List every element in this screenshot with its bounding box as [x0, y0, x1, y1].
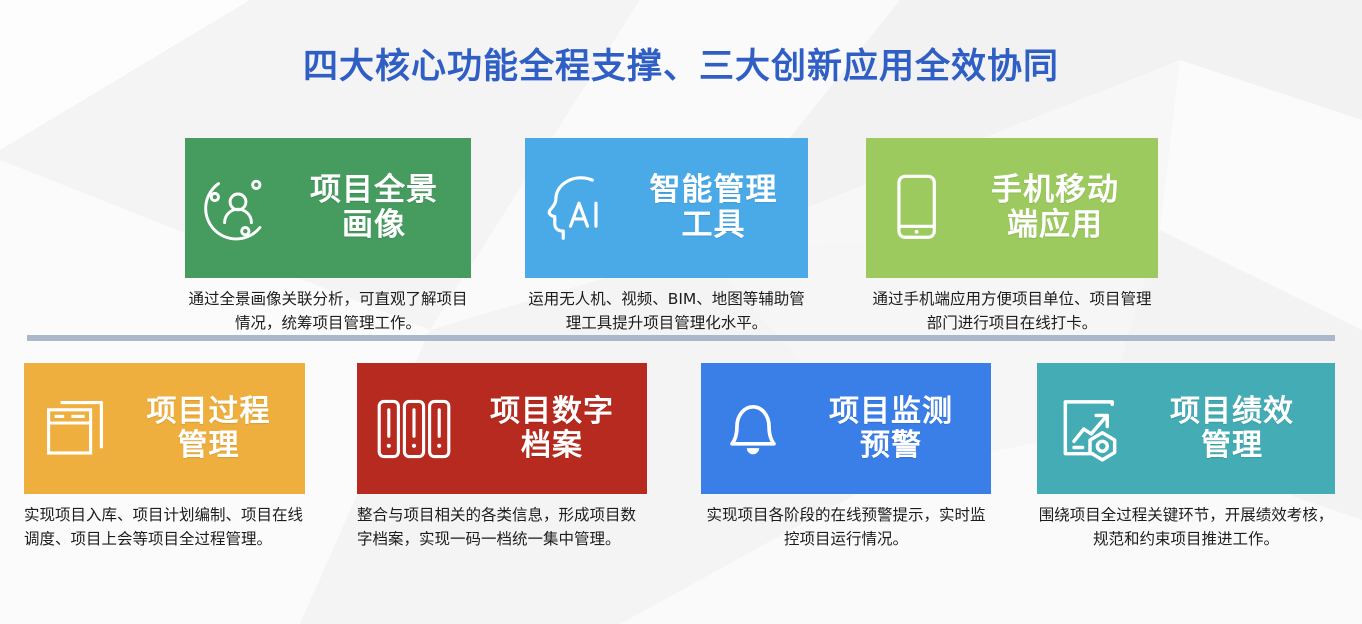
card-title: 项目全景 画像 [277, 173, 471, 242]
card-title: 智能管理 工具 [619, 173, 808, 242]
card-description: 围绕项目全过程关键环节，开展绩效考核，规范和约束项目推进工作。 [1037, 503, 1335, 551]
card-description: 实现项目各阶段的在线预警提示，实时监控项目运行情况。 [701, 503, 991, 551]
card-title: 项目过程 管理 [112, 395, 305, 462]
chart-growth-icon [1051, 392, 1129, 466]
card-title: 项目数字 档案 [457, 395, 647, 462]
card-banner: 智能管理 工具 [525, 138, 808, 278]
card-banner: 项目数字 档案 [357, 363, 647, 494]
card-title: 手机移动 端应用 [952, 173, 1158, 242]
archive-binders-icon [371, 393, 457, 465]
card-banner: 手机移动 端应用 [866, 138, 1158, 278]
card-description: 实现项目入库、项目计划编制、项目在线调度、项目上会等项目全过程管理。 [24, 503, 305, 551]
row-divider [27, 335, 1335, 341]
card-title: 项目监测 预警 [791, 395, 991, 462]
feature-card-project-process-management[interactable]: 项目过程 管理 实现项目入库、项目计划编制、项目在线调度、项目上会等项目全过程管… [24, 363, 305, 551]
feature-card-project-digital-archive[interactable]: 项目数字 档案 整合与项目相关的各类信息，形成项目数字档案，实现一码一档统一集中… [357, 363, 647, 551]
mobile-phone-icon [880, 169, 952, 247]
person-orbit-icon [199, 169, 277, 247]
feature-card-mobile-application[interactable]: 手机移动 端应用 通过手机端应用方便项目单位、项目管理部门进行项目在线打卡。 [866, 138, 1158, 335]
card-banner: 项目绩效 管理 [1037, 363, 1335, 494]
feature-card-intelligent-management-tools[interactable]: 智能管理 工具 运用无人机、视频、BIM、地图等辅助管理工具提升项目管理化水平。 [525, 138, 808, 335]
card-banner: 项目过程 管理 [24, 363, 305, 494]
ai-head-icon [539, 169, 619, 247]
stacked-documents-icon [38, 393, 112, 465]
page-title: 四大核心功能全程支撑、三大创新应用全效协同 [0, 38, 1362, 89]
card-description: 通过手机端应用方便项目单位、项目管理部门进行项目在线打卡。 [866, 287, 1158, 335]
card-banner: 项目监测 预警 [701, 363, 991, 494]
card-description: 通过全景画像关联分析，可直观了解项目情况，统筹项目管理工作。 [185, 287, 471, 335]
feature-card-project-performance-management[interactable]: 项目绩效 管理 围绕项目全过程关键环节，开展绩效考核，规范和约束项目推进工作。 [1037, 363, 1335, 551]
card-banner: 项目全景 画像 [185, 138, 471, 278]
feature-card-project-monitoring-alert[interactable]: 项目监测 预警 实现项目各阶段的在线预警提示，实时监控项目运行情况。 [701, 363, 991, 551]
feature-card-project-panorama-portrait[interactable]: 项目全景 画像 通过全景画像关联分析，可直观了解项目情况，统筹项目管理工作。 [185, 138, 471, 335]
bell-icon [715, 392, 791, 466]
card-title: 项目绩效 管理 [1129, 395, 1335, 462]
card-description: 整合与项目相关的各类信息，形成项目数字档案，实现一码一档统一集中管理。 [357, 503, 647, 551]
card-description: 运用无人机、视频、BIM、地图等辅助管理工具提升项目管理化水平。 [525, 287, 808, 335]
